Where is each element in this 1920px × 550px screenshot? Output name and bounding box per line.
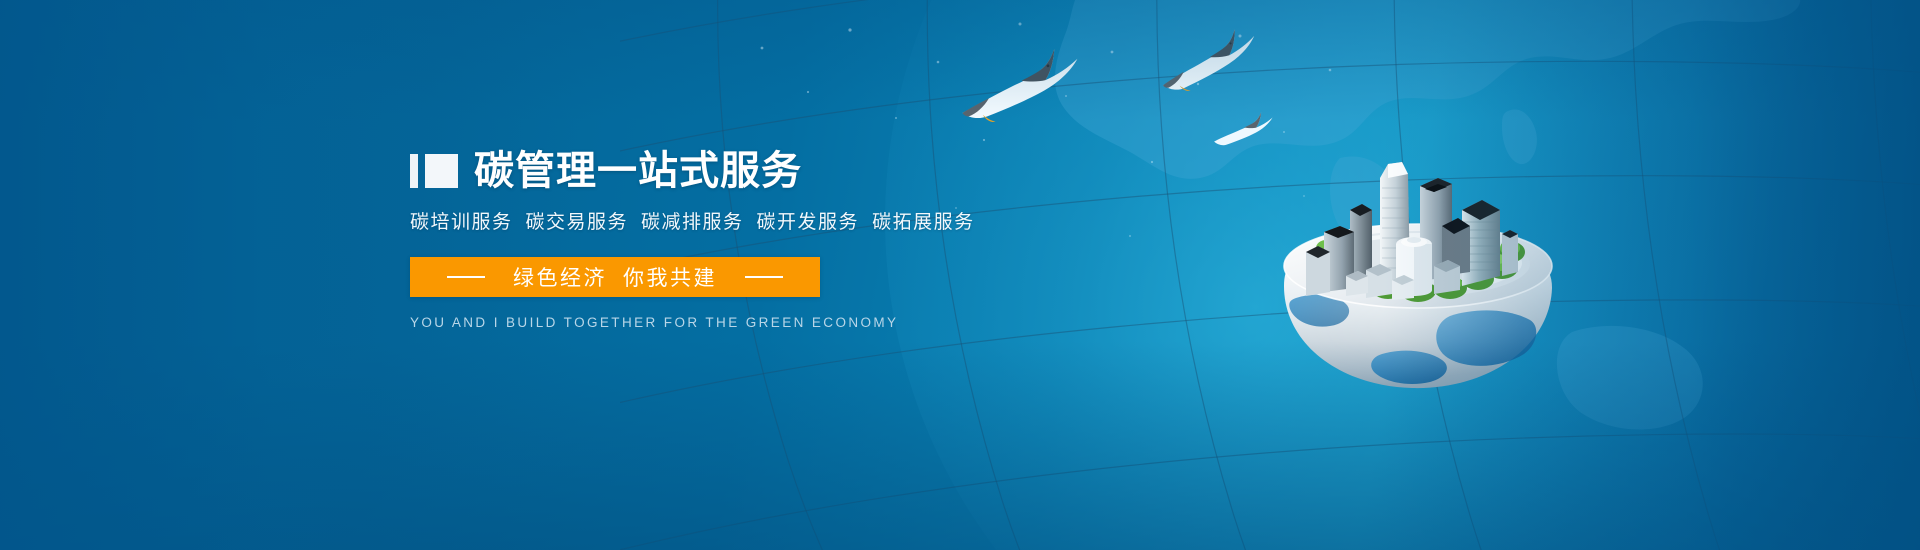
mark-square-icon <box>425 154 458 188</box>
banner-content: 碳管理一站式服务 碳培训服务碳交易服务碳减排服务碳开发服务碳拓展服务 绿色经济你… <box>410 148 1130 330</box>
service-item-0: 碳培训服务 <box>410 212 513 233</box>
bar-square-mark-icon <box>410 154 458 188</box>
slogan-text: 绿色经济你我共建 <box>513 262 717 292</box>
mark-bar-icon <box>410 154 418 188</box>
carbon-management-banner: 碳管理一站式服务 碳培训服务碳交易服务碳减排服务碳开发服务碳拓展服务 绿色经济你… <box>0 0 1920 550</box>
service-item-4: 碳拓展服务 <box>872 212 975 233</box>
slogan-text-right: 你我共建 <box>623 267 717 290</box>
ribbon-dash-left-icon <box>447 276 485 278</box>
service-item-1: 碳交易服务 <box>526 212 629 233</box>
english-tagline: YOU AND I BUILD TOGETHER FOR THE GREEN E… <box>410 315 1130 330</box>
service-item-3: 碳开发服务 <box>757 212 860 233</box>
service-list: 碳培训服务碳交易服务碳减排服务碳开发服务碳拓展服务 <box>410 207 1130 234</box>
headline-row: 碳管理一站式服务 <box>410 148 1130 194</box>
slogan-ribbon: 绿色经济你我共建 <box>410 257 820 297</box>
service-item-2: 碳减排服务 <box>641 212 744 233</box>
page-title: 碳管理一站式服务 <box>474 151 802 191</box>
slogan-text-left: 绿色经济 <box>513 267 607 290</box>
ribbon-dash-right-icon <box>745 276 783 278</box>
